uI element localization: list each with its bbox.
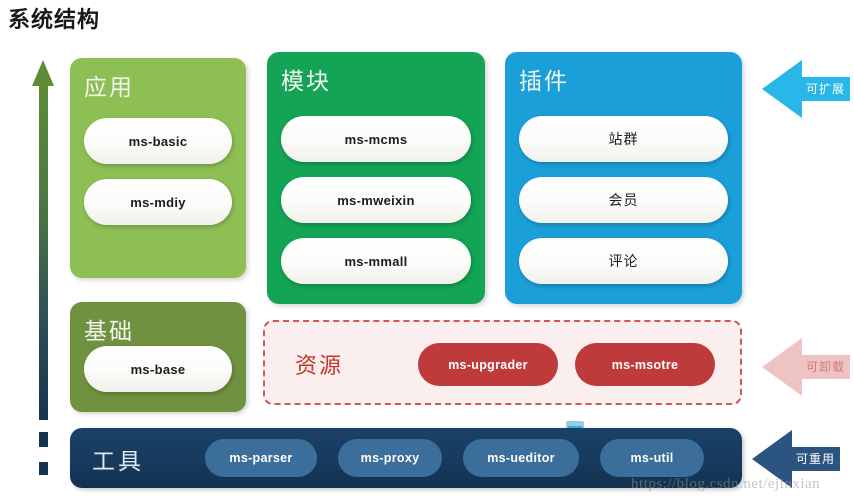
module-pill-ms-mmall[interactable]: ms-mmall (281, 238, 471, 284)
module-pill-label: ms-basic (129, 134, 188, 149)
layer-card-base[interactable]: 基础 ms-base (70, 302, 246, 412)
module-pill-label: ms-mweixin (337, 193, 414, 208)
module-pill-ms-mweixin[interactable]: ms-mweixin (281, 177, 471, 223)
module-pill-ms-mcms[interactable]: ms-mcms (281, 116, 471, 162)
page-title: 系统结构 (8, 2, 100, 34)
module-pill-label: ms-mdiy (130, 195, 186, 210)
module-pill-label: ms-mmall (344, 254, 407, 269)
plugin-pill-label: 评论 (609, 251, 639, 271)
tool-pill-ms-util[interactable]: ms-util (600, 439, 704, 477)
resource-title: 资源 (295, 348, 343, 380)
tool-pill-label: ms-ueditor (487, 451, 555, 465)
tool-pill-ms-parser[interactable]: ms-parser (205, 439, 317, 477)
arrow-tip-icon (762, 60, 802, 118)
arrow-shaft (39, 80, 48, 420)
tool-pill-ms-ueditor[interactable]: ms-ueditor (463, 439, 579, 477)
watermark: https://blog.csdn.net/ejinxian (631, 476, 820, 493)
module-pill-ms-basic[interactable]: ms-basic (84, 118, 232, 164)
module-pill-ms-mdiy[interactable]: ms-mdiy (84, 179, 232, 225)
tool-pill-label: ms-proxy (361, 451, 420, 465)
axis-dash-mark-1 (39, 432, 48, 447)
annotation-label-extendable: 可扩展 (806, 80, 845, 97)
arrow-tip-icon (762, 338, 802, 396)
layer-title-module: 模块 (281, 62, 331, 96)
resource-pill-label: ms-upgrader (448, 358, 528, 372)
tools-title: 工具 (92, 442, 144, 476)
tool-pill-ms-proxy[interactable]: ms-proxy (338, 439, 442, 477)
plugin-pill-label: 站群 (609, 129, 639, 149)
layer-title-base: 基础 (84, 312, 134, 346)
module-pill-label: ms-mcms (345, 132, 408, 147)
resource-pill-ms-upgrader[interactable]: ms-upgrader (418, 343, 558, 386)
annotation-label-reusable: 可重用 (796, 450, 835, 467)
resource-pill-label: ms-msotre (612, 358, 679, 372)
plugin-pill-pinglun[interactable]: 评论 (519, 238, 728, 284)
annotation-arrow-extendable: 可扩展 (762, 60, 850, 118)
annotation-arrow-uninstallable: 可卸载 (762, 338, 850, 396)
tool-pill-label: ms-util (630, 451, 673, 465)
plugin-pill-label: 会员 (609, 190, 639, 210)
layer-card-plugin[interactable]: 插件 站群 会员 评论 (505, 52, 742, 304)
module-pill-label: ms-base (131, 362, 186, 377)
layer-title-plugin: 插件 (519, 62, 569, 96)
plugin-pill-zhanqun[interactable]: 站群 (519, 116, 728, 162)
resource-section[interactable]: 资源 ms-upgrader ms-msotre (263, 320, 742, 405)
layer-card-module[interactable]: 模块 ms-mcms ms-mweixin ms-mmall (267, 52, 485, 304)
resource-pill-ms-msotre[interactable]: ms-msotre (575, 343, 715, 386)
axis-dash-mark-2 (39, 462, 48, 475)
layer-card-app[interactable]: 应用 ms-basic ms-mdiy (70, 58, 246, 278)
module-pill-ms-base[interactable]: ms-base (84, 346, 232, 392)
annotation-label-uninstallable: 可卸载 (806, 358, 845, 375)
vertical-flow-arrow-icon (32, 60, 54, 420)
tool-pill-label: ms-parser (229, 451, 292, 465)
layer-title-app: 应用 (84, 68, 134, 102)
plugin-pill-huiyuan[interactable]: 会员 (519, 177, 728, 223)
